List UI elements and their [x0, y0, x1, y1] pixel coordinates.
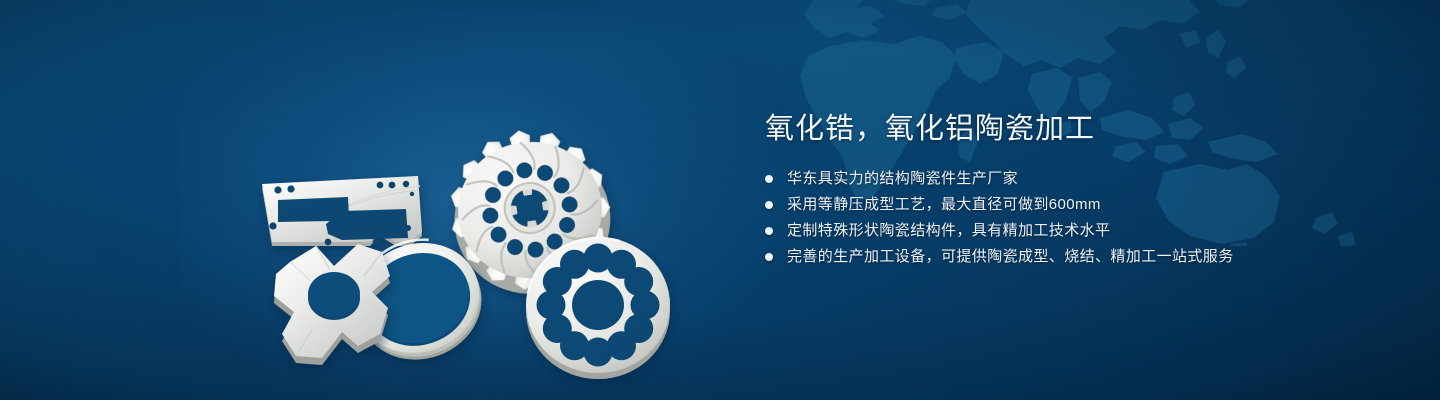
promo-banner: 氧化锆，氧化铝陶瓷加工 华东具实力的结构陶瓷件生产厂家 采用等静压成型工艺，最大… — [0, 0, 1440, 400]
list-item: 完善的生产加工设备，可提供陶瓷成型、烧结、精加工一站式服务 — [765, 246, 1385, 268]
feature-text: 定制特殊形状陶瓷结构件，具有精加工技术水平 — [787, 220, 1110, 242]
feature-list: 华东具实力的结构陶瓷件生产厂家 采用等静压成型工艺，最大直径可做到600mm 定… — [765, 168, 1385, 268]
bullet-dot-icon — [765, 175, 773, 183]
list-item: 采用等静压成型工艺，最大直径可做到600mm — [765, 194, 1385, 216]
ceramic-star-part — [274, 244, 390, 365]
feature-text: 完善的生产加工设备，可提供陶瓷成型、烧结、精加工一站式服务 — [787, 246, 1234, 268]
copy-block: 氧化锆，氧化铝陶瓷加工 华东具实力的结构陶瓷件生产厂家 采用等静压成型工艺，最大… — [765, 110, 1385, 272]
bullet-dot-icon — [765, 227, 773, 235]
feature-text: 华东具实力的结构陶瓷件生产厂家 — [787, 168, 1018, 190]
bullet-dot-icon — [765, 253, 773, 261]
ceramic-plate — [262, 176, 422, 246]
list-item: 华东具实力的结构陶瓷件生产厂家 — [765, 168, 1385, 190]
ceramic-hole-ring — [526, 237, 670, 379]
bullet-dot-icon — [765, 201, 773, 209]
product-photo-group — [230, 40, 700, 390]
headline: 氧化锆，氧化铝陶瓷加工 — [765, 110, 1385, 148]
feature-text: 采用等静压成型工艺，最大直径可做到600mm — [787, 194, 1101, 216]
list-item: 定制特殊形状陶瓷结构件，具有精加工技术水平 — [765, 220, 1385, 242]
